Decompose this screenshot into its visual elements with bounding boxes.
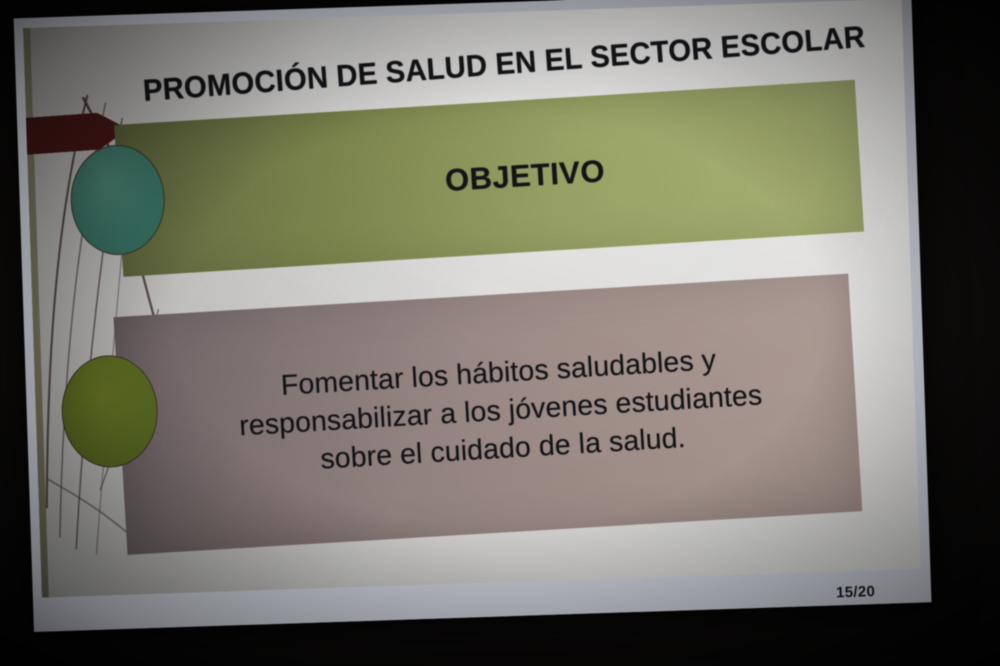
projection-screen: PROMOCIÓN DE SALUD EN EL SECTOR ESCOLAR … (14, 0, 932, 632)
photo-stage: PROMOCIÓN DE SALUD EN EL SECTOR ESCOLAR … (0, 0, 1000, 666)
slide-canvas: PROMOCIÓN DE SALUD EN EL SECTOR ESCOLAR … (23, 0, 920, 598)
objective-banner: OBJETIVO (114, 80, 864, 277)
objective-body-box: Fomentar los hábitos saludables y respon… (113, 274, 862, 555)
objective-body-text: Fomentar los hábitos saludables y respon… (167, 334, 835, 488)
objective-banner-label: OBJETIVO (118, 138, 861, 219)
page-indicator: 15/20 (836, 583, 876, 601)
slide-frame: PROMOCIÓN DE SALUD EN EL SECTOR ESCOLAR … (14, 0, 932, 632)
